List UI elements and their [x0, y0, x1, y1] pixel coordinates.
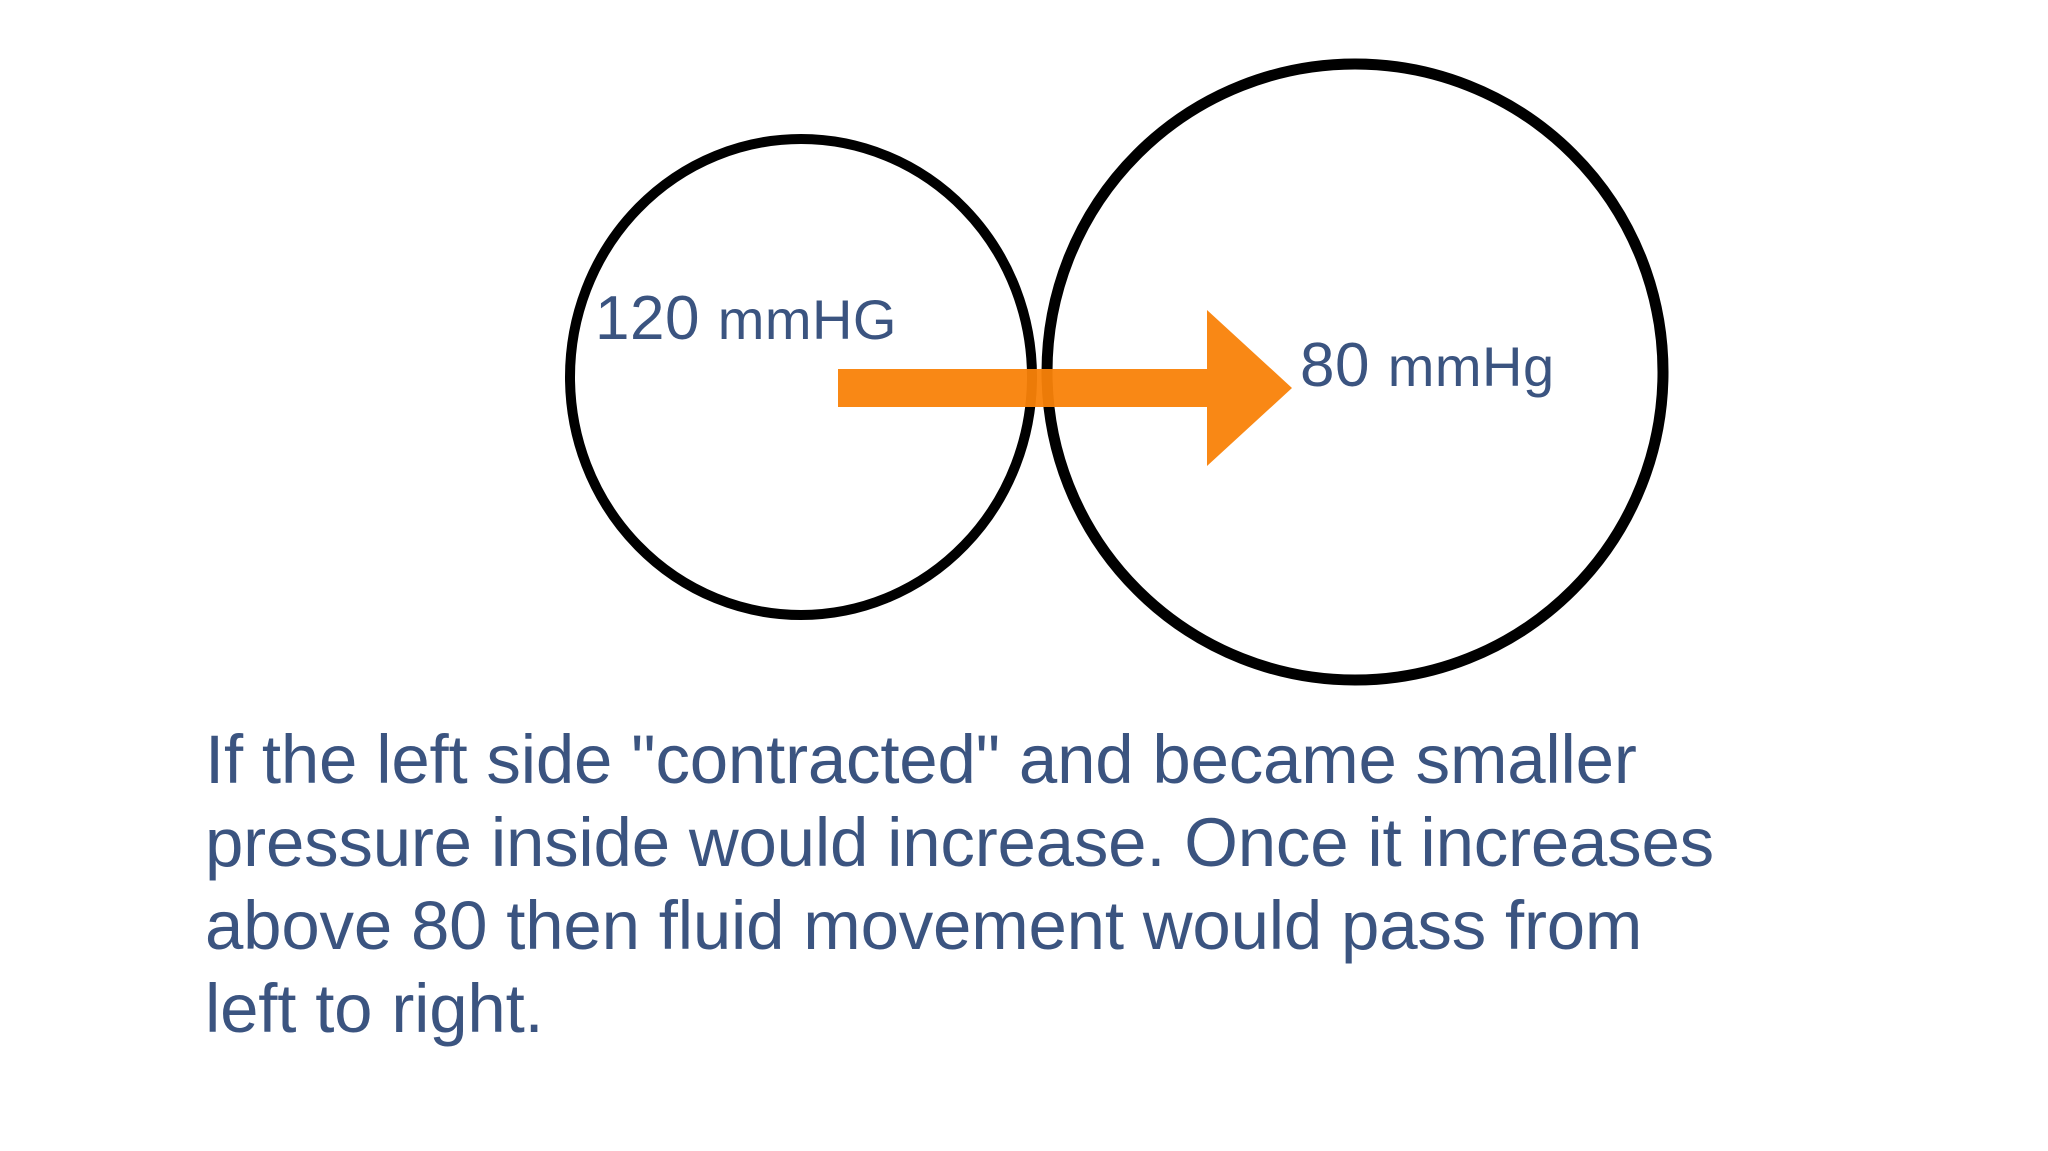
left-pressure-value: 120 — [595, 284, 700, 353]
right-pressure-unit: mmHg — [1388, 335, 1555, 398]
caption-line-2: pressure inside would increase. Once it … — [205, 801, 1965, 884]
left-pressure-unit: mmHG — [718, 288, 897, 351]
slide-canvas: 120 mmHG 80 mmHg If the left side "contr… — [0, 0, 2048, 1151]
right-pressure-label: 80 mmHg — [1300, 335, 1555, 397]
caption-line-4: left to right. — [205, 967, 1965, 1050]
caption-line-3: above 80 then fluid movement would pass … — [205, 884, 1965, 967]
pressure-diagram: 120 mmHG 80 mmHg — [0, 0, 2048, 720]
caption-line-1: If the left side "contracted" and became… — [205, 718, 1965, 801]
caption-text: If the left side "contracted" and became… — [205, 718, 1965, 1050]
left-pressure-label: 120 mmHG — [595, 288, 897, 350]
right-pressure-value: 80 — [1300, 331, 1370, 400]
diagram-svg — [0, 0, 2048, 720]
